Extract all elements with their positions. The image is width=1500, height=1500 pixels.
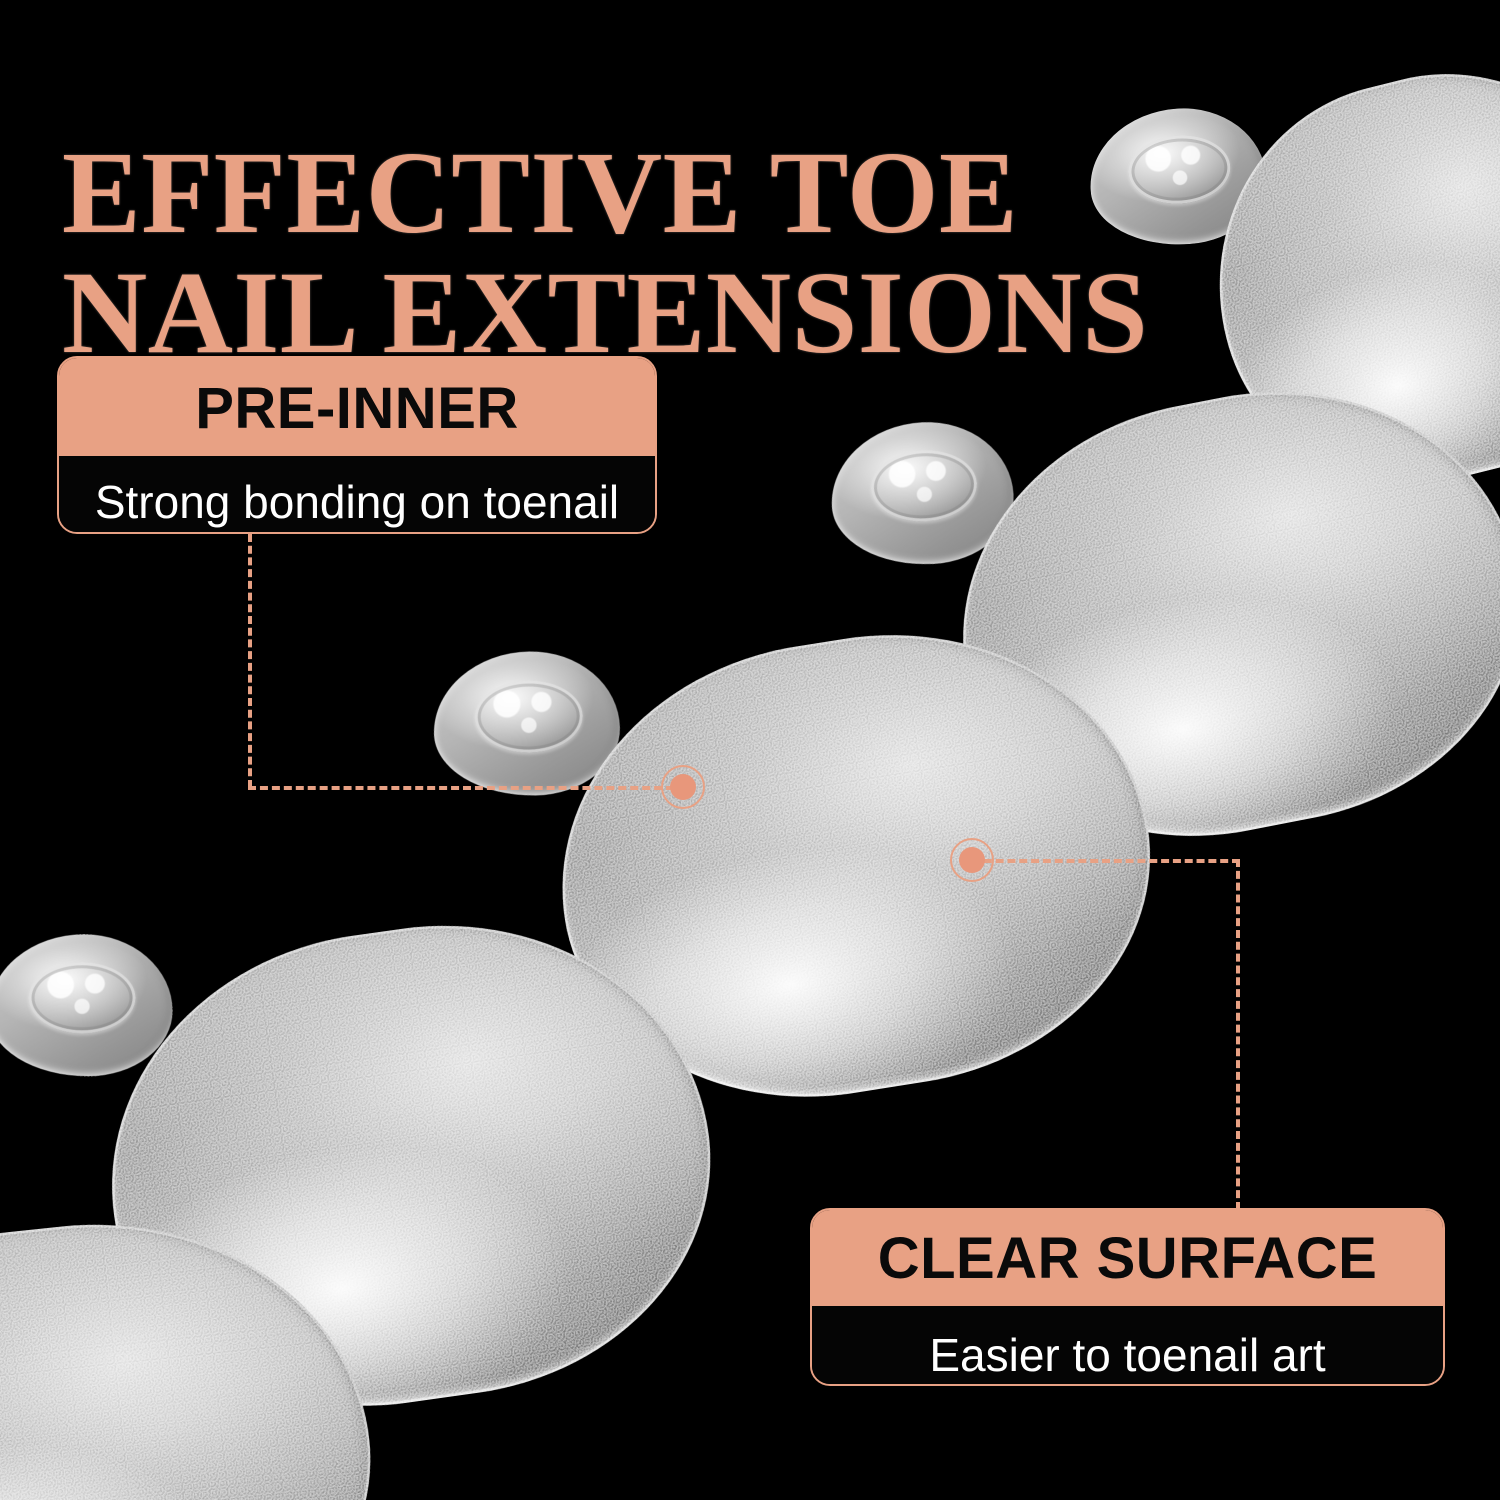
callout-pre-inner-heading: PRE-INNER: [59, 358, 655, 456]
page-title: EFFECTIVE TOE NAIL EXTENSIONS: [62, 133, 1242, 374]
nail-tip-center: [528, 597, 1181, 1134]
callout-clear-surface: CLEAR SURFACE Easier to toenail art: [810, 1208, 1445, 1386]
nail-edge-highlight: [0, 1197, 393, 1500]
callout-pre-inner: PRE-INNER Strong bonding on toenail: [57, 356, 657, 534]
nail-tip-bottom-corner: [0, 1197, 393, 1500]
nail-surface-texture: [924, 349, 1500, 878]
nail-tab-icon: [828, 418, 1017, 569]
nail-edge-highlight: [80, 891, 740, 1440]
connector-vertical-clear-surface: [1236, 859, 1240, 1210]
nail-plate: [0, 1197, 393, 1500]
nail-plate: [80, 891, 740, 1440]
nail-surface-texture: [80, 891, 740, 1440]
callout-pre-inner-body: Strong bonding on toenail: [59, 456, 655, 534]
callout-clear-surface-heading: CLEAR SURFACE: [812, 1210, 1443, 1306]
connector-vertical-pre-inner: [248, 534, 252, 788]
nail-surface-texture: [528, 597, 1181, 1134]
nail-surface-texture: [0, 1197, 393, 1500]
nail-plate: [924, 349, 1500, 878]
page-title-line-1: EFFECTIVE TOE: [62, 133, 1242, 253]
nail-edge-highlight: [924, 349, 1500, 878]
nail-tip-lower-left: [80, 891, 740, 1440]
nail-edge-highlight: [528, 597, 1181, 1134]
nail-tab-icon: [0, 934, 173, 1076]
product-infographic: EFFECTIVE TOE NAIL EXTENSIONS PRE-INNER …: [0, 0, 1500, 1500]
callout-marker-pre-inner: [661, 765, 705, 809]
connector-horizontal-clear-surface: [972, 859, 1240, 863]
nail-plate: [528, 597, 1181, 1134]
callout-clear-surface-body: Easier to toenail art: [812, 1306, 1443, 1386]
nail-tab-icon: [433, 650, 621, 797]
nail-tip-upper-middle: [924, 349, 1500, 878]
callout-marker-clear-surface: [950, 838, 994, 882]
connector-horizontal-pre-inner: [248, 786, 686, 790]
